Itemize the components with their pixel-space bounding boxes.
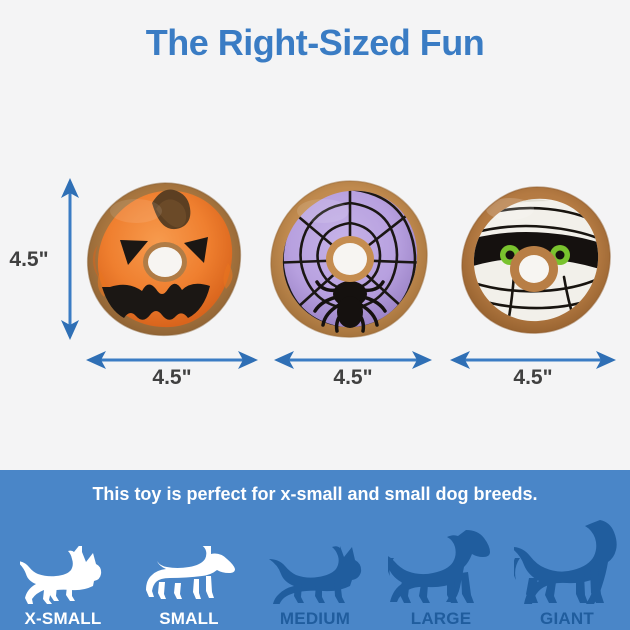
banner-message: This toy is perfect for x-small and smal… bbox=[0, 480, 630, 508]
size-option-small[interactable]: SMALL bbox=[126, 520, 252, 630]
size-option-large[interactable]: LARGE bbox=[378, 520, 504, 630]
width-measure-label-pumpkin: 4.5" bbox=[86, 366, 258, 390]
size-label-giant: GIANT bbox=[540, 608, 594, 630]
size-option-medium[interactable]: MEDIUM bbox=[252, 520, 378, 630]
size-label-large: LARGE bbox=[411, 608, 472, 630]
bull-terrier-silhouette-icon bbox=[266, 542, 364, 604]
page-title: The Right-Sized Fun bbox=[0, 20, 630, 66]
great-dane-silhouette-icon bbox=[514, 542, 620, 604]
chihuahua-silhouette-icon bbox=[20, 542, 106, 604]
toy-row bbox=[0, 175, 630, 345]
width-measure-label-mummy: 4.5" bbox=[450, 366, 616, 390]
spiderweb-donut-toy bbox=[265, 175, 435, 345]
breed-size-banner: This toy is perfect for x-small and smal… bbox=[0, 470, 630, 630]
retriever-silhouette-icon bbox=[388, 542, 494, 604]
size-option-giant[interactable]: GIANT bbox=[504, 520, 630, 630]
pumpkin-donut-toy bbox=[80, 175, 250, 345]
size-option-x-small[interactable]: X-SMALL bbox=[0, 520, 126, 630]
dachshund-silhouette-icon bbox=[141, 542, 237, 604]
product-size-infographic: The Right-Sized Fun 4.5" bbox=[0, 0, 630, 630]
mummy-donut-toy bbox=[452, 175, 622, 345]
size-label-x-small: X-SMALL bbox=[25, 608, 102, 630]
width-measure-label-spiderweb: 4.5" bbox=[274, 366, 432, 390]
size-label-small: SMALL bbox=[159, 608, 219, 630]
breed-size-scale: X-SMALL SMALL bbox=[0, 520, 630, 630]
size-label-medium: MEDIUM bbox=[280, 608, 350, 630]
